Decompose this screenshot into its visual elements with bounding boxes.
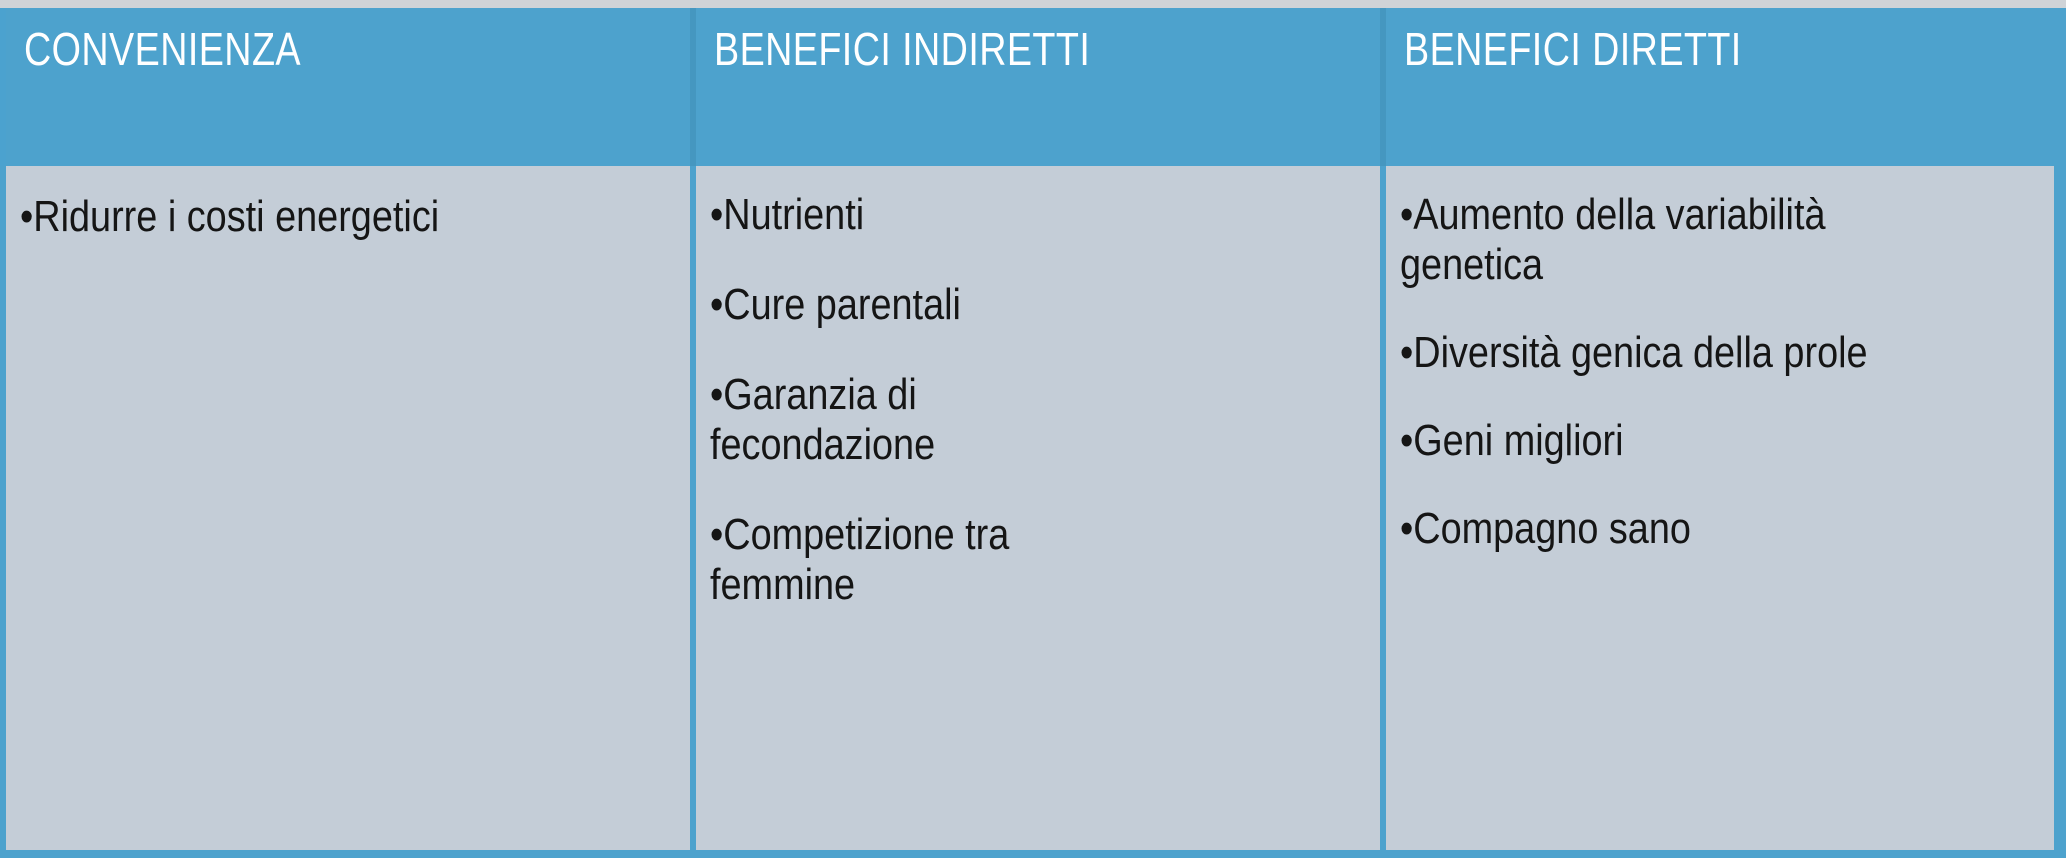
table-header-cell-benefici-diretti: BENEFICI DIRETTI: [1380, 8, 2060, 166]
list-item-text: •Cure parentali: [710, 280, 961, 330]
bullet-list-benefici-diretti: •Aumento della variabilità genetica •Div…: [1400, 190, 2050, 554]
list-item: •Cure parentali: [710, 280, 1376, 330]
list-item-text: •Ridurre i costi energetici: [20, 192, 439, 242]
list-item: •Competizione tra femmine: [710, 510, 1376, 610]
list-item: •Compagno sano: [1400, 504, 2050, 554]
column-header-label: CONVENIENZA: [24, 22, 570, 76]
list-item: •Garanzia di fecondazione: [710, 370, 1376, 470]
list-item-text: •Nutrienti: [710, 190, 864, 240]
column-header-label: BENEFICI DIRETTI: [1404, 22, 1942, 76]
list-item-text: •Geni migliori: [1400, 416, 1624, 466]
list-item-text: •Diversità genica della prole: [1400, 328, 1868, 378]
list-item: •Aumento della variabilità genetica: [1400, 190, 2050, 290]
bullet-list-benefici-indiretti: •Nutrienti •Cure parentali •Garanzia di …: [710, 190, 1376, 610]
column-header-label: BENEFICI INDIRETTI: [714, 22, 1260, 76]
list-item-text: •Aumento della variabilità genetica: [1400, 190, 1959, 290]
list-item: •Nutrienti: [710, 190, 1376, 240]
table-header-row: CONVENIENZA BENEFICI INDIRETTI BENEFICI …: [0, 8, 2066, 166]
list-item-text: •Garanzia di fecondazione: [710, 370, 985, 470]
table-cell-convenienza: •Ridurre i costi energetici: [0, 166, 690, 858]
list-item: •Geni migliori: [1400, 416, 2050, 466]
comparison-table: CONVENIENZA BENEFICI INDIRETTI BENEFICI …: [0, 8, 2066, 858]
list-item: •Diversità genica della prole: [1400, 328, 2050, 378]
table-body-row: •Ridurre i costi energetici •Nutrienti •…: [0, 166, 2066, 858]
table-cell-benefici-indiretti: •Nutrienti •Cure parentali •Garanzia di …: [690, 166, 1380, 858]
list-item-text: •Compagno sano: [1400, 504, 1691, 554]
table-cell-benefici-diretti: •Aumento della variabilità genetica •Div…: [1380, 166, 2060, 858]
bullet-list-convenienza: •Ridurre i costi energetici: [20, 192, 686, 242]
list-item-text: •Competizione tra femmine: [710, 510, 1054, 610]
table-header-cell-benefici-indiretti: BENEFICI INDIRETTI: [690, 8, 1380, 166]
list-item: •Ridurre i costi energetici: [20, 192, 686, 242]
slide-canvas: CONVENIENZA BENEFICI INDIRETTI BENEFICI …: [0, 0, 2066, 858]
table-header-cell-convenienza: CONVENIENZA: [0, 8, 690, 166]
